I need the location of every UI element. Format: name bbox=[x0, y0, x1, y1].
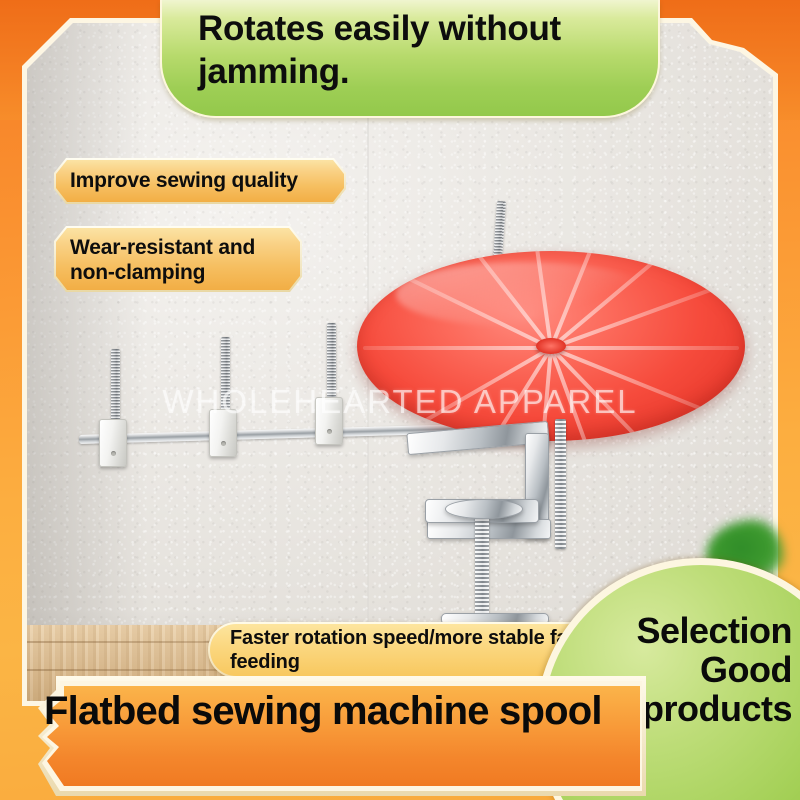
headline-banner: Rotates easily without jamming. bbox=[160, 0, 660, 118]
bracket-2 bbox=[209, 409, 237, 457]
bracket-3 bbox=[315, 397, 343, 445]
product-title: Flatbed sewing machine spool bbox=[44, 690, 604, 733]
feature-badge-2-label: Wear-resistant and non-clamping bbox=[70, 236, 286, 286]
headline-text: Rotates easily without jamming. bbox=[198, 8, 638, 93]
clamp-upright-rod bbox=[555, 419, 566, 549]
feature-badge-1[interactable]: Improve sewing quality bbox=[54, 158, 346, 204]
product-banner-image: WHOLEHEARTED APPAREL Rotates easily with… bbox=[0, 0, 800, 800]
bracket-1 bbox=[99, 419, 127, 467]
red-rotating-disc bbox=[357, 251, 745, 441]
clamp-screw-pad bbox=[445, 499, 523, 519]
feature-badge-1-label: Improve sewing quality bbox=[70, 169, 332, 194]
feature-badge-2[interactable]: Wear-resistant and non-clamping bbox=[54, 226, 302, 292]
